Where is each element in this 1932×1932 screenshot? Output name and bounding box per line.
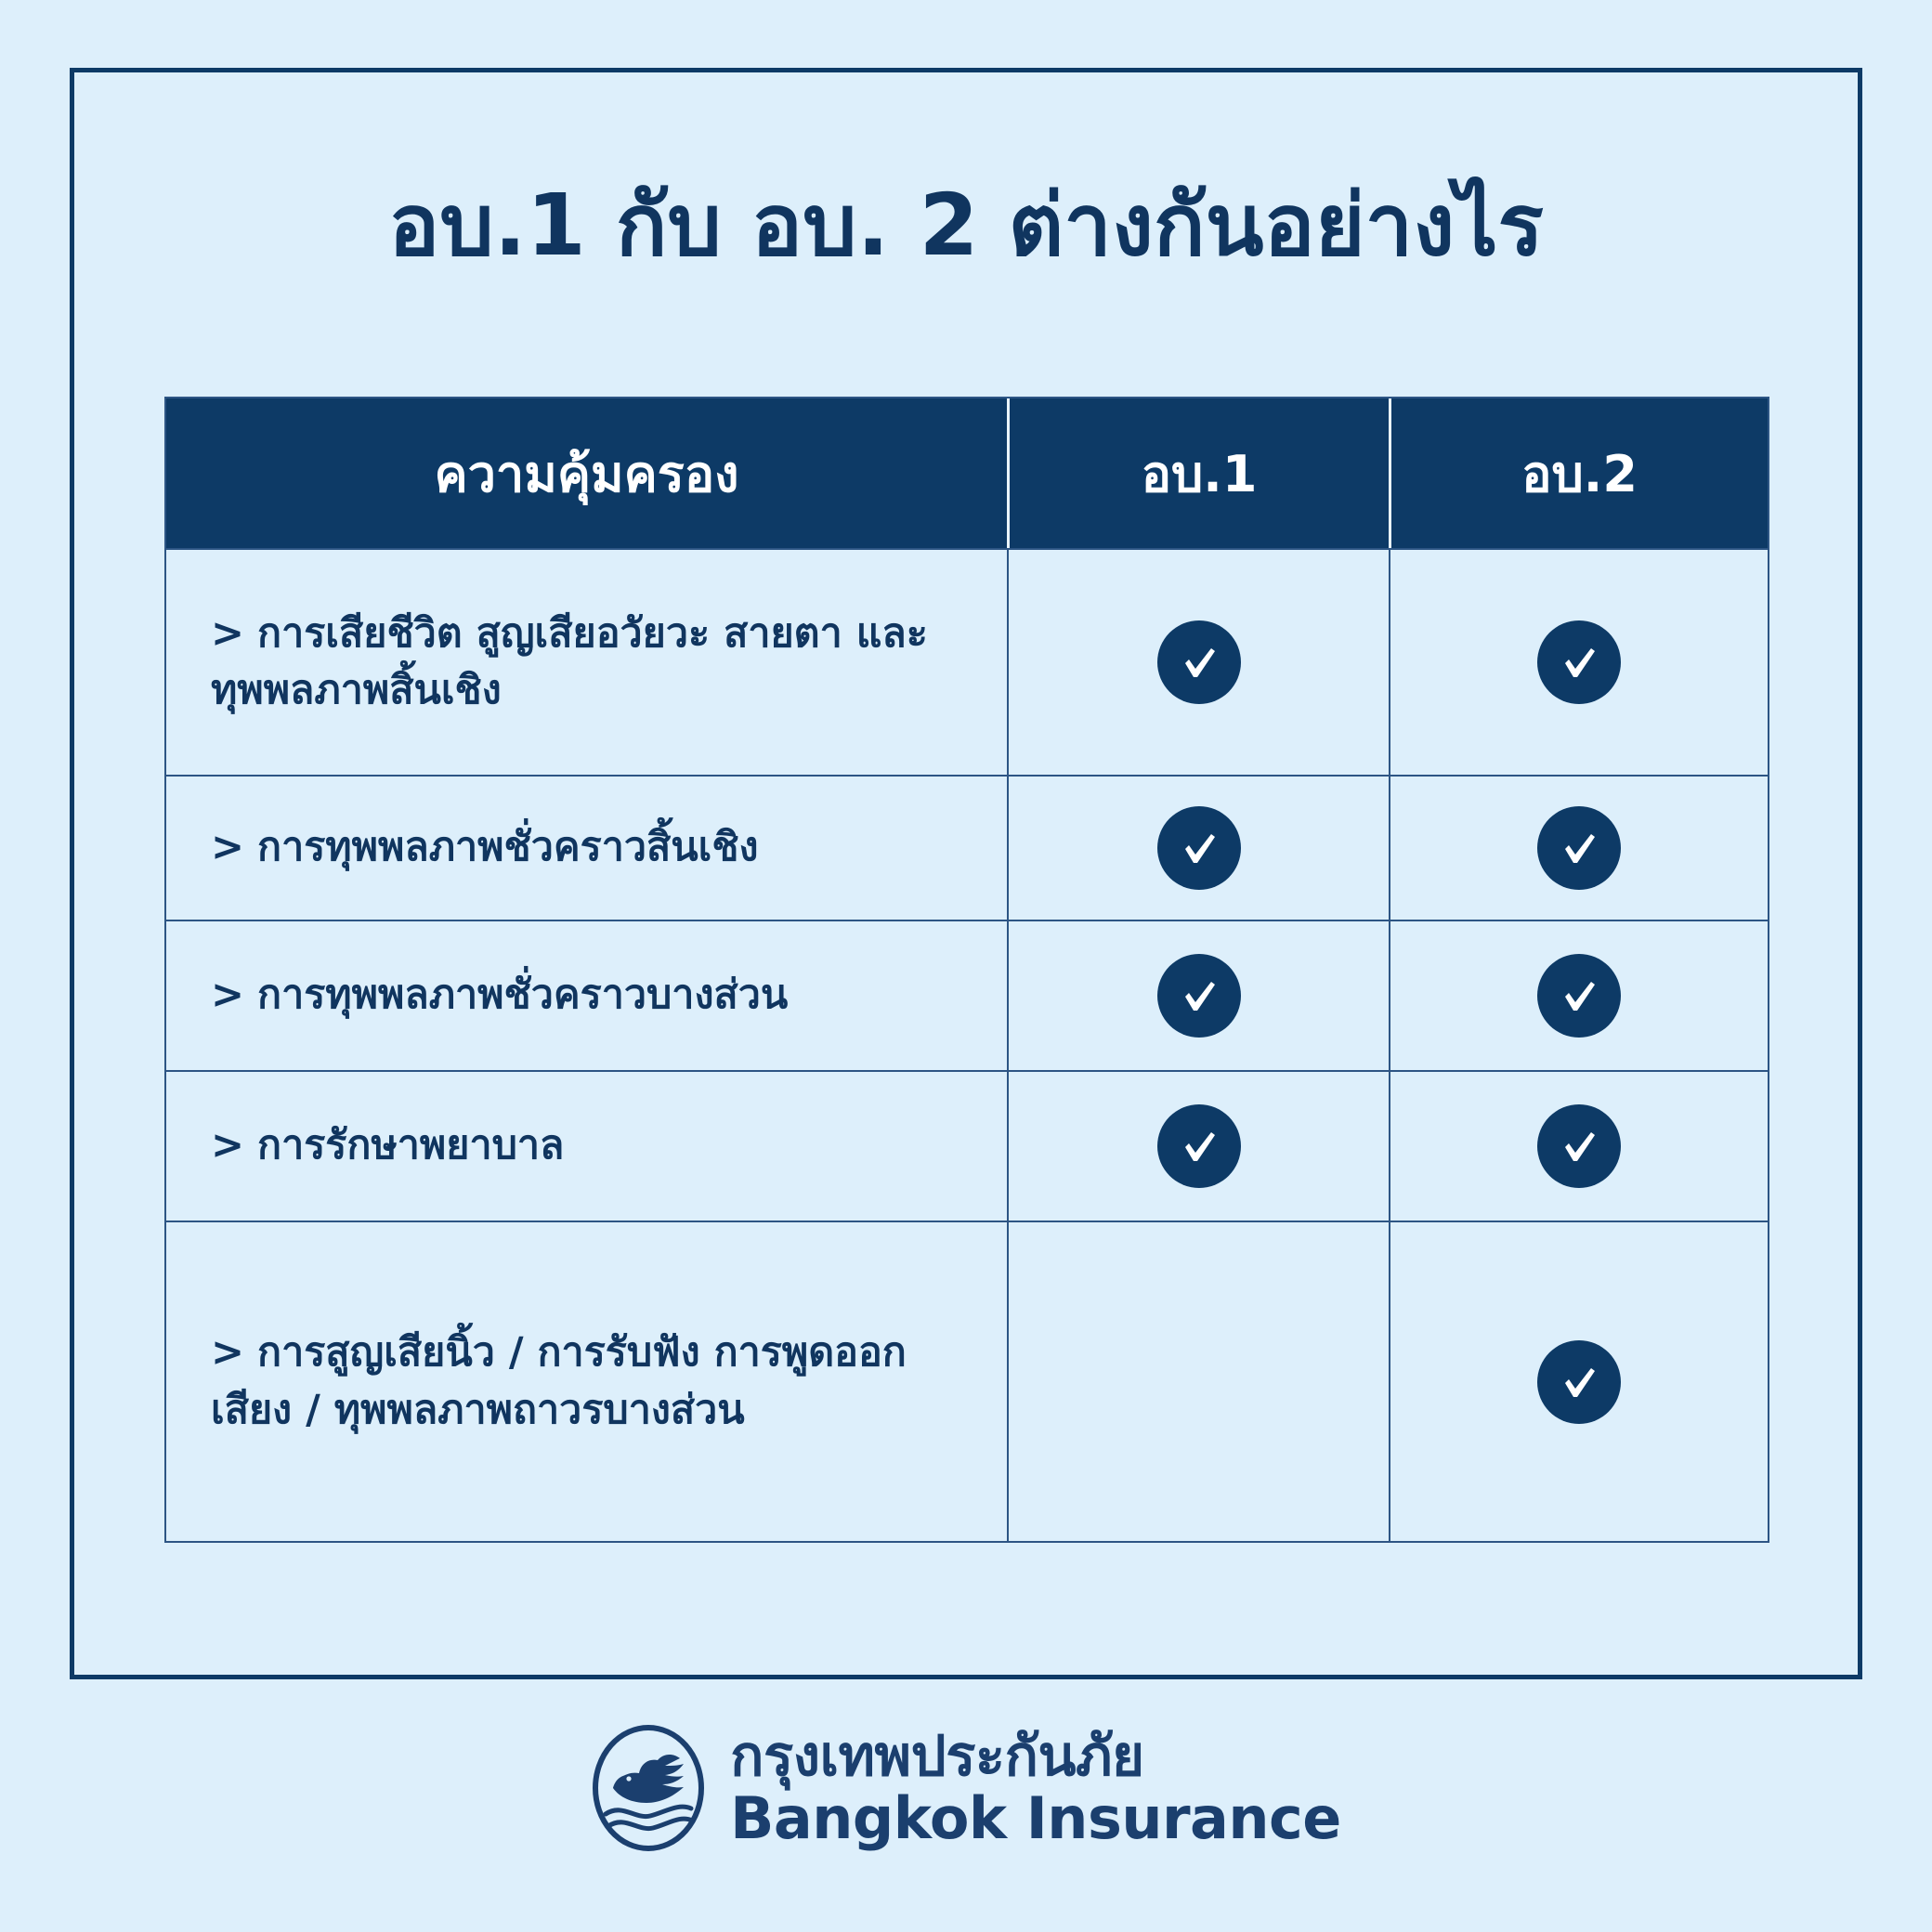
- brand-name-english: Bangkok Insurance: [730, 1790, 1341, 1847]
- table-row: >การเสียชีวิต สูญเสียอวัยวะ สายตา และทุพ…: [166, 548, 1768, 775]
- coverage-label: >การเสียชีวิต สูญเสียอวัยวะ สายตา และทุพ…: [211, 606, 970, 719]
- chevron-right-icon: >: [211, 610, 244, 657]
- chevron-right-icon: >: [211, 972, 244, 1018]
- check-icon: [1537, 1104, 1621, 1188]
- coverage-text: การสูญเสียนิ้ว / การรับฟัง การพูดออกเสีย…: [211, 1329, 907, 1432]
- ob2-cell: [1389, 777, 1768, 920]
- coverage-cell: >การทุพพลภาพชั่วคราวบางส่วน: [166, 921, 1007, 1070]
- coverage-cell: >การสูญเสียนิ้ว / การรับฟัง การพูดออกเสี…: [166, 1222, 1007, 1541]
- ob2-cell: [1389, 921, 1768, 1070]
- table-row: >การรักษาพยาบาล: [166, 1070, 1768, 1221]
- ob1-cell: [1007, 1222, 1389, 1541]
- coverage-cell: >การทุพพลภาพชั่วคราวสิ้นเชิง: [166, 777, 1007, 920]
- check-icon: [1157, 806, 1241, 890]
- check-icon: [1537, 954, 1621, 1038]
- coverage-text: การทุพพลภาพชั่วคราวบางส่วน: [257, 972, 788, 1018]
- ob2-cell: [1389, 1072, 1768, 1221]
- ob2-cell: [1389, 1222, 1768, 1541]
- coverage-cell: >การรักษาพยาบาล: [166, 1072, 1007, 1221]
- coverage-label: >การทุพพลภาพชั่วคราวสิ้นเชิง: [211, 819, 759, 876]
- infographic-poster: อบ.1 กับ อบ. 2 ต่างกันอย่างไร ความคุ้มคร…: [0, 0, 1932, 1932]
- check-icon: [1157, 620, 1241, 704]
- column-header-ob1: อบ.1: [1007, 398, 1389, 548]
- ob2-cell: [1389, 550, 1768, 775]
- check-icon: [1157, 1104, 1241, 1188]
- dove-in-circle-icon: [591, 1723, 706, 1853]
- ob1-cell: [1007, 921, 1389, 1070]
- check-icon: [1537, 620, 1621, 704]
- column-header-ob2: อบ.2: [1389, 398, 1768, 548]
- check-icon: [1537, 1340, 1621, 1424]
- brand-name-thai: กรุงเทพประกันภัย: [730, 1729, 1341, 1784]
- ob1-cell: [1007, 777, 1389, 920]
- coverage-label: >การรักษาพยาบาล: [211, 1117, 564, 1174]
- check-icon: [1537, 806, 1621, 890]
- chevron-right-icon: >: [211, 824, 244, 870]
- coverage-text: การเสียชีวิต สูญเสียอวัยวะ สายตา และทุพพ…: [211, 610, 928, 713]
- coverage-text: การทุพพลภาพชั่วคราวสิ้นเชิง: [257, 824, 759, 870]
- table-row: >การสูญเสียนิ้ว / การรับฟัง การพูดออกเสี…: [166, 1221, 1768, 1541]
- check-icon: [1157, 954, 1241, 1038]
- coverage-text: การรักษาพยาบาล: [257, 1122, 564, 1168]
- chevron-right-icon: >: [211, 1329, 244, 1376]
- comparison-table: ความคุ้มครอง อบ.1 อบ.2 >การเสียชีวิต สูญ…: [164, 397, 1769, 1543]
- page-title: อบ.1 กับ อบ. 2 ต่างกันอย่างไร: [70, 176, 1862, 275]
- coverage-label: >การทุพพลภาพชั่วคราวบางส่วน: [211, 967, 788, 1024]
- ob1-cell: [1007, 1072, 1389, 1221]
- coverage-cell: >การเสียชีวิต สูญเสียอวัยวะ สายตา และทุพ…: [166, 550, 1007, 775]
- ob1-cell: [1007, 550, 1389, 775]
- brand-wordmark: กรุงเทพประกันภัย Bangkok Insurance: [730, 1729, 1341, 1847]
- chevron-right-icon: >: [211, 1122, 244, 1168]
- table-row: >การทุพพลภาพชั่วคราวสิ้นเชิง: [166, 775, 1768, 920]
- column-header-coverage: ความคุ้มครอง: [166, 398, 1007, 548]
- table-row: >การทุพพลภาพชั่วคราวบางส่วน: [166, 920, 1768, 1070]
- brand-footer: กรุงเทพประกันภัย Bangkok Insurance: [0, 1723, 1932, 1853]
- coverage-label: >การสูญเสียนิ้ว / การรับฟัง การพูดออกเสี…: [211, 1325, 970, 1438]
- table-header-row: ความคุ้มครอง อบ.1 อบ.2: [166, 398, 1768, 548]
